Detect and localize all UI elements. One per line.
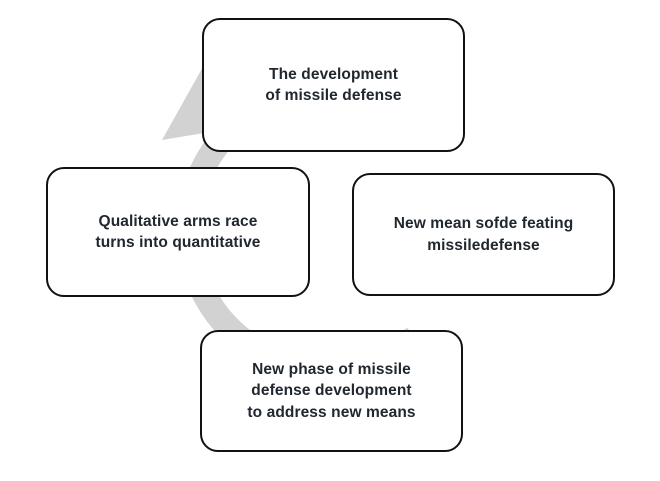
cycle-node-bottom-label: New phase of missile defense development…	[237, 359, 425, 423]
cycle-node-top[interactable]: The development of missile defense	[202, 18, 465, 152]
cycle-node-top-label: The development of missile defense	[255, 64, 411, 107]
cycle-node-left-label: Qualitative arms race turns into quantit…	[85, 211, 270, 254]
cycle-node-right[interactable]: New mean sofde feating missiledefense	[352, 173, 615, 296]
cycle-node-right-label: New mean sofde feating missiledefense	[384, 213, 584, 256]
cycle-node-bottom[interactable]: New phase of missile defense development…	[200, 330, 463, 452]
diagram-canvas: The development of missile defense New m…	[0, 0, 660, 481]
cycle-node-left[interactable]: Qualitative arms race turns into quantit…	[46, 167, 310, 297]
